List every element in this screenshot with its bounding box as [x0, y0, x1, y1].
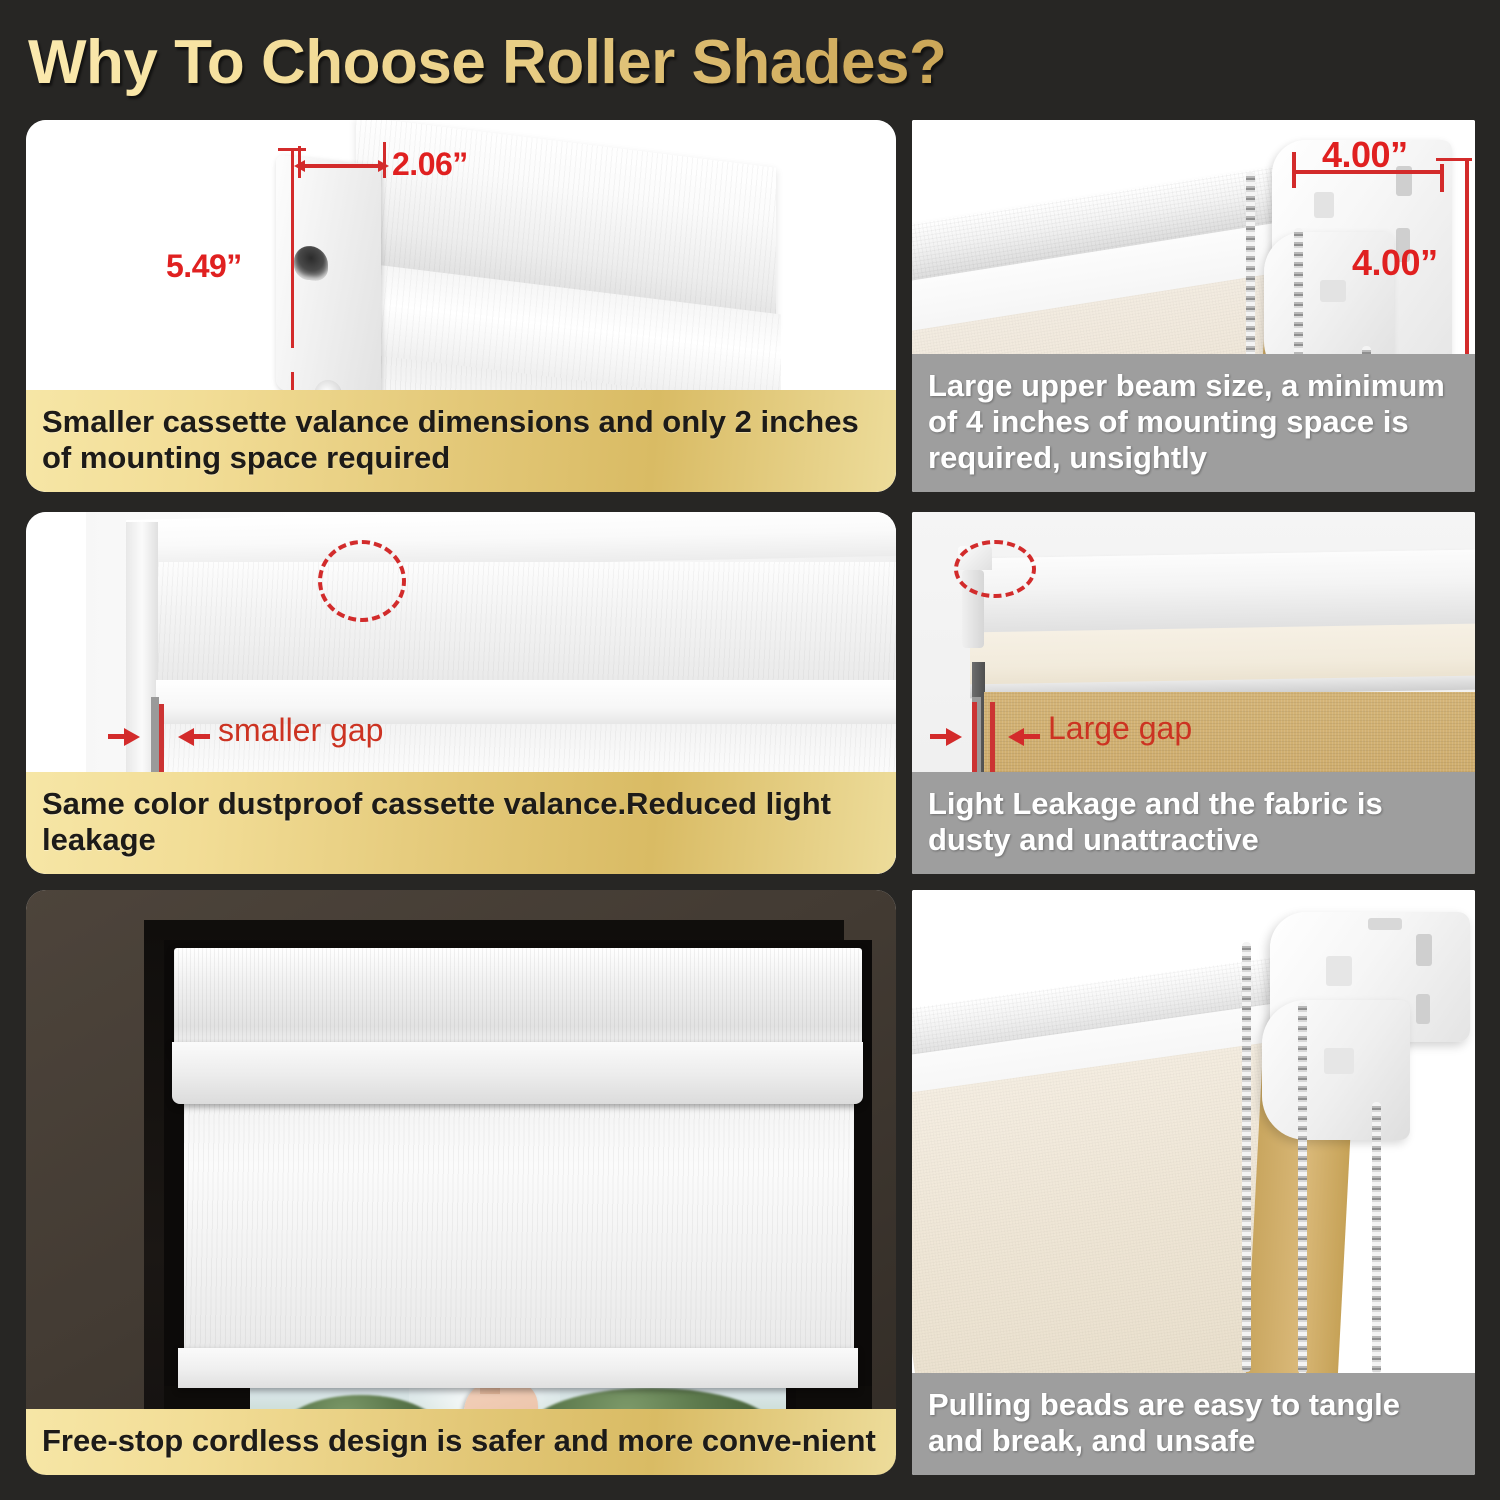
beam-width-tick-right — [1440, 164, 1444, 192]
bead-chain-1[interactable] — [1242, 942, 1251, 1372]
panel-free-stop-cordless-caption: Free-stop cordless design is safer and m… — [26, 1409, 896, 1475]
panel-light-leakage: Large gap Light Leakage and the fabric i… — [912, 512, 1475, 874]
mounting-bracket-lower — [1262, 1000, 1410, 1140]
cassette-valance — [174, 948, 862, 1053]
beam-height-dimension-label: 4.00” — [1352, 242, 1438, 284]
panel-large-upper-beam: 4.00” 4.00” Large upper beam size, a min… — [912, 120, 1475, 492]
panel-smaller-cassette: 2.06” 5.49” Smaller cassette valance dim… — [26, 120, 896, 492]
cassette-valance-lip — [172, 1042, 863, 1104]
beam-width-tick-left — [1292, 152, 1296, 188]
headrail — [968, 550, 1475, 637]
gap-highlight-circle — [318, 540, 406, 622]
page-title-text: Why To Choose Roller Shades? — [28, 22, 1128, 104]
height-dim-line — [291, 150, 294, 348]
smaller-gap-label: smaller gap — [218, 712, 383, 749]
shade-upper-band — [158, 562, 896, 680]
gap-arrow-left-stem — [930, 734, 948, 739]
gap-indicator-bar-red — [159, 704, 164, 772]
page-title: Why To Choose Roller Shades? — [28, 22, 1128, 104]
height-dimension-label: 5.49” — [166, 248, 242, 285]
panel-free-stop-cordless-photo — [26, 890, 896, 1475]
gap-indicator-bar-red-1 — [972, 702, 977, 774]
large-gap-label: Large gap — [1048, 710, 1192, 747]
width-dim-line — [300, 164, 386, 168]
roller-shade-fabric — [184, 1100, 854, 1362]
beam-width-dimension-label: 4.00” — [1322, 134, 1408, 176]
panel-smaller-cassette-caption: Smaller cassette valance dimensions and … — [26, 390, 896, 492]
panel-pulling-beads-caption: Pulling beads are easy to tangle and bre… — [912, 1373, 1475, 1475]
beam-height-tick-top — [1436, 158, 1472, 161]
panel-dustproof-valance-caption: Same color dustproof cassette valance.Re… — [26, 772, 896, 874]
panel-large-upper-beam-caption: Large upper beam size, a minimum of 4 in… — [912, 354, 1475, 492]
panel-dustproof-valance: smaller gap Same color dustproof cassett… — [26, 512, 896, 874]
bead-chain-3[interactable] — [1372, 1102, 1381, 1374]
beam-height-dim-line — [1465, 160, 1469, 360]
height-dim-tick-top — [278, 148, 306, 151]
gap-arrow-right-stem — [1022, 734, 1040, 739]
panel-light-leakage-caption: Light Leakage and the fabric is dusty an… — [912, 772, 1475, 874]
gap-arrow-left — [946, 728, 962, 746]
gap-arrow-left-stem — [108, 734, 126, 739]
gap-indicator-bar — [151, 697, 159, 779]
width-dimension-label: 2.06” — [392, 146, 468, 183]
gap-highlight-circle — [954, 540, 1036, 598]
gap-arrow-right-stem — [192, 734, 210, 739]
panel-pulling-beads: Pulling beads are easy to tangle and bre… — [912, 890, 1475, 1475]
bead-chain-2[interactable] — [1298, 1002, 1307, 1374]
gap-indicator-bar-red-2 — [990, 702, 995, 774]
shade-hem-bar — [178, 1348, 858, 1388]
gap-arrow-left — [124, 728, 140, 746]
panel-free-stop-cordless: Free-stop cordless design is safer and m… — [26, 890, 896, 1475]
width-dim-tick-right — [383, 142, 386, 178]
